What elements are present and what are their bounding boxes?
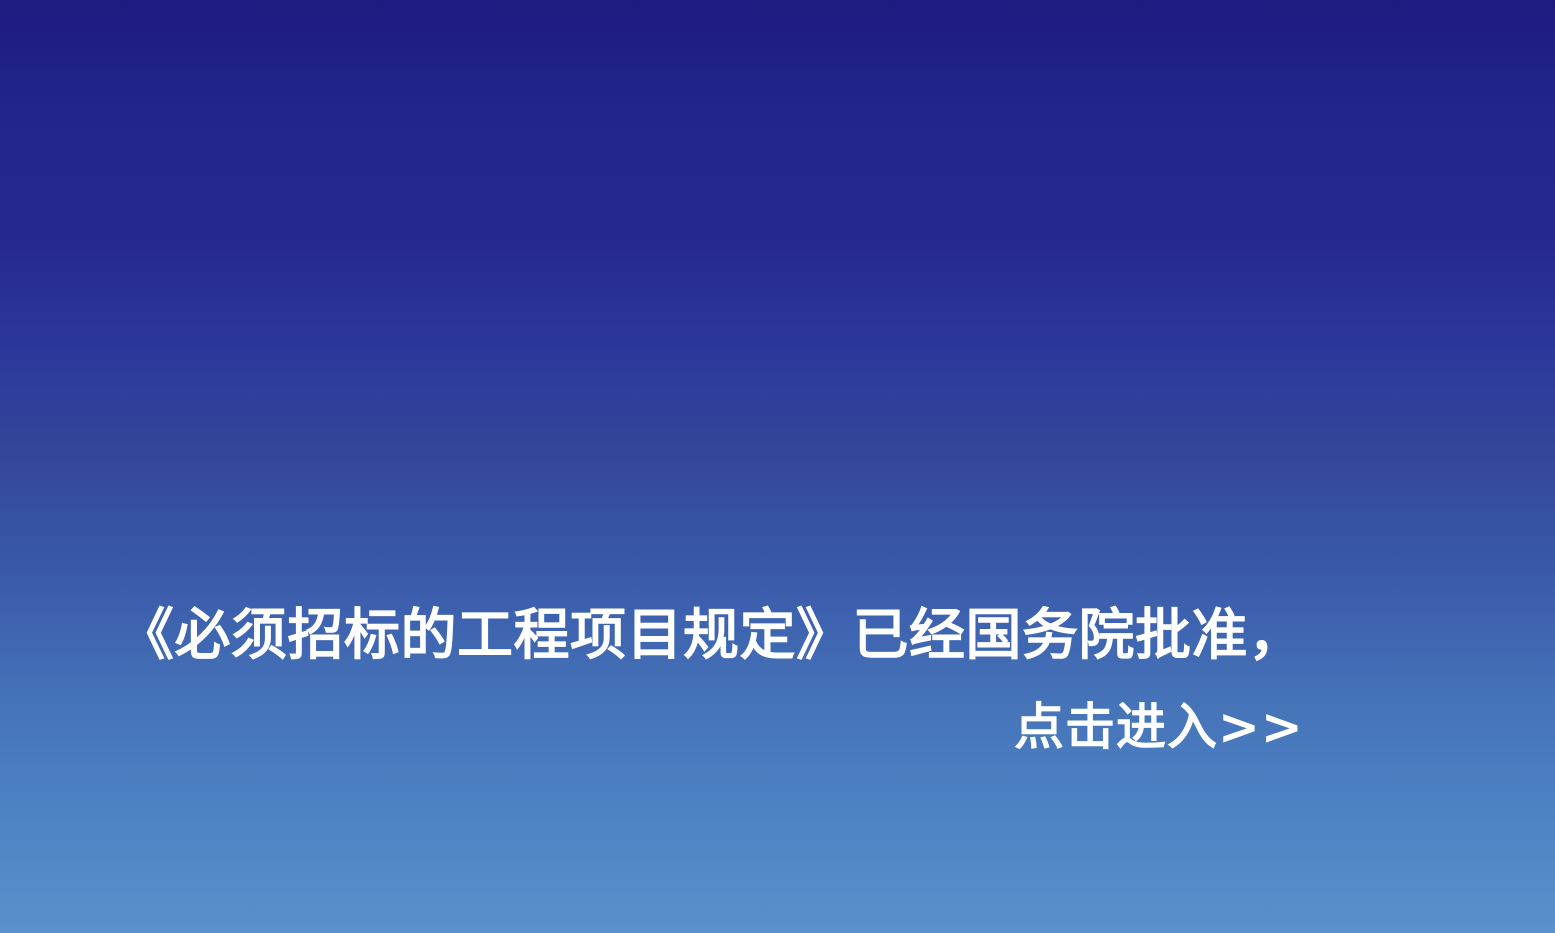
announcement-paragraph: 《必须招标的工程项目规定》已经国务院批准， 现予公布，自2018年6月1日起施行… xyxy=(98,336,1478,933)
announcement-slide: 《必须招标的工程项目规定》已经国务院批准， 现予公布，自2018年6月1日起施行… xyxy=(0,0,1555,933)
enter-link[interactable]: 点击进入>> xyxy=(1014,694,1304,760)
announcement-line-1: 《必须招标的工程项目规定》已经国务院批准， xyxy=(118,576,1478,696)
